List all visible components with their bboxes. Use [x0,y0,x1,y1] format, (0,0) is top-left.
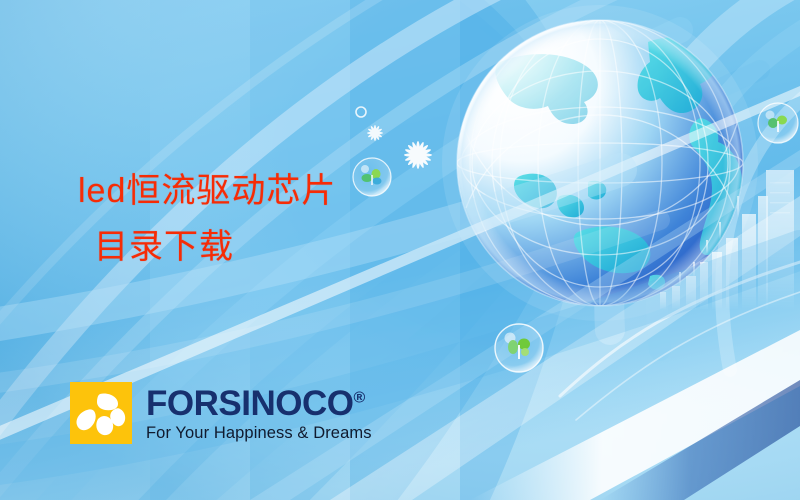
company-logo: FORSINOCO® For Your Happiness & Dreams [70,382,372,444]
logo-company-name: FORSINOCO® [146,386,372,422]
bubble-pinwheel-right [758,103,798,143]
headline-line-1: led恒流驱动芯片 [78,163,336,219]
sparkle-ring-small [356,107,366,117]
logo-wordmark: FORSINOCO® For Your Happiness & Dreams [146,382,372,443]
headline-text: led恒流驱动芯片 目录下载 [78,163,336,275]
bubble-pinwheel-lower [495,324,543,372]
headline-line-2: 目录下载 [78,219,336,275]
logo-company-name-text: FORSINOCO [146,384,353,423]
four-petal-flower-mark-icon [70,382,132,444]
poster-canvas: led恒流驱动芯片 目录下载 FORSINOCO® For Your Happi… [0,0,800,500]
registered-trademark-icon: ® [353,389,365,406]
sparkle-star-small [367,125,383,141]
bubble-pinwheel-left [353,158,391,196]
logo-tagline: For Your Happiness & Dreams [146,423,372,443]
sparkle-star-large [404,141,432,169]
